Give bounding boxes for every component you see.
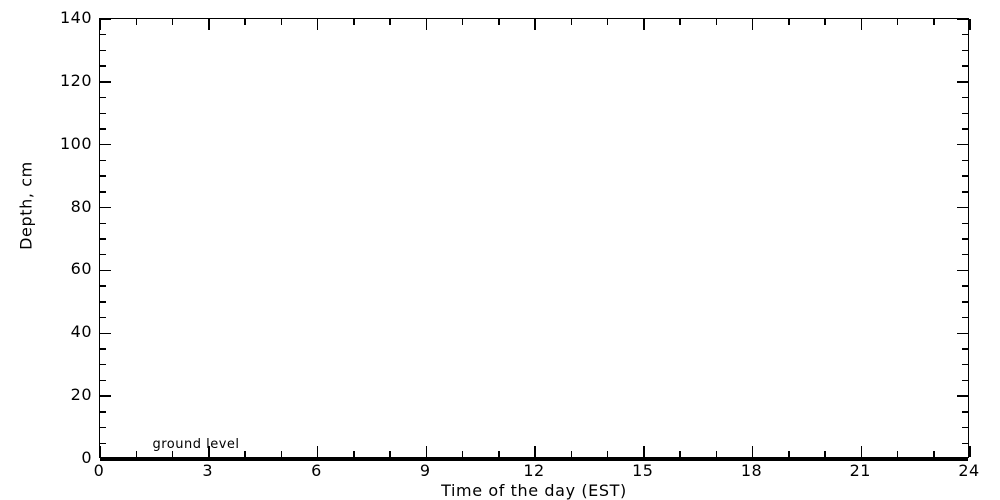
x-axis-tick-label: 15 <box>632 463 653 479</box>
y-axis-tick <box>100 254 106 256</box>
x-axis-tick <box>353 451 355 457</box>
y-axis-tick <box>100 65 106 67</box>
y-axis-tick <box>962 238 968 240</box>
x-axis-tick <box>571 19 573 25</box>
y-axis-tick <box>962 285 968 287</box>
y-axis-tick <box>100 317 106 319</box>
x-axis-tick-label: 0 <box>94 463 105 479</box>
temperature-profile-chart: Temperature Profile Jun 16, 2015 (201516… <box>0 0 1000 500</box>
x-axis-tick <box>353 19 355 25</box>
y-axis-tick <box>100 207 111 209</box>
x-axis-tick-label: 3 <box>202 463 213 479</box>
x-axis-tick <box>969 19 971 30</box>
x-axis-tick <box>498 451 500 457</box>
y-axis-tick <box>962 317 968 319</box>
x-axis-tick-label: 9 <box>420 463 431 479</box>
x-axis-tick <box>969 446 971 457</box>
y-axis-tick <box>962 443 968 445</box>
y-axis-tick-label: 60 <box>71 261 92 277</box>
y-axis-tick <box>957 270 968 272</box>
y-axis-tick <box>957 458 968 460</box>
y-axis-tick <box>100 175 106 177</box>
y-axis-tick-label: 100 <box>60 136 92 152</box>
x-axis-tick <box>208 446 210 457</box>
y-axis-tick <box>962 65 968 67</box>
x-axis-tick <box>99 446 101 457</box>
y-axis-tick <box>962 175 968 177</box>
y-axis-tick <box>962 50 968 52</box>
x-axis-tick-label: 18 <box>741 463 762 479</box>
ground-level-label: ground level <box>153 437 240 452</box>
y-axis-tick <box>100 50 106 52</box>
y-axis-tick <box>962 97 968 99</box>
y-axis-tick <box>957 207 968 209</box>
y-axis-tick <box>962 160 968 162</box>
y-axis-tick <box>100 395 111 397</box>
x-axis-tick <box>99 19 101 30</box>
x-axis-tick-label: 21 <box>850 463 871 479</box>
x-axis-tick <box>136 451 138 457</box>
x-axis-tick <box>462 451 464 457</box>
plot-area: ground level <box>99 18 969 458</box>
y-axis-tick <box>957 395 968 397</box>
x-axis-tick <box>897 451 899 457</box>
y-axis-tick <box>100 223 106 225</box>
x-axis-tick <box>607 19 609 25</box>
y-axis-tick <box>957 18 968 20</box>
y-axis-tick <box>962 380 968 382</box>
x-axis-tick <box>752 19 754 30</box>
x-axis-tick <box>317 446 319 457</box>
y-axis-tick <box>100 443 106 445</box>
y-axis-tick <box>100 301 106 303</box>
y-axis-tick <box>100 97 106 99</box>
x-axis-tick <box>897 19 899 25</box>
x-axis-tick <box>208 19 210 30</box>
y-axis-tick <box>100 348 106 350</box>
x-axis-tick <box>462 19 464 25</box>
x-axis-tick <box>861 19 863 30</box>
y-axis-tick <box>962 301 968 303</box>
y-axis-tick-labels: 020406080100120140 <box>0 18 92 458</box>
y-axis-tick <box>962 364 968 366</box>
y-axis-tick <box>962 411 968 413</box>
y-axis-tick <box>100 144 111 146</box>
x-axis-tick <box>679 19 681 25</box>
y-axis-tick <box>100 18 111 20</box>
x-axis-tick <box>788 451 790 457</box>
x-axis-tick <box>389 19 391 25</box>
x-axis-tick <box>643 19 645 30</box>
y-axis-tick <box>962 254 968 256</box>
x-axis-tick <box>317 19 319 30</box>
x-axis-tick <box>824 451 826 457</box>
y-axis-tick <box>957 333 968 335</box>
x-axis-tick <box>607 451 609 457</box>
x-axis-tick <box>861 446 863 457</box>
y-axis-tick <box>100 160 106 162</box>
y-axis-tick-label: 40 <box>71 324 92 340</box>
y-axis-tick <box>962 223 968 225</box>
y-axis-tick <box>100 411 106 413</box>
y-axis-tick <box>962 191 968 193</box>
y-axis-tick <box>100 113 106 115</box>
x-axis-title: Time of the day (EST) <box>99 481 969 500</box>
x-axis-tick <box>933 19 935 25</box>
y-axis-tick-label: 0 <box>81 450 92 466</box>
y-axis-tick <box>957 81 968 83</box>
x-axis-tick-label: 6 <box>311 463 322 479</box>
y-axis-tick <box>100 270 111 272</box>
x-axis-tick <box>716 451 718 457</box>
y-axis-tick <box>100 285 106 287</box>
y-axis-tick <box>962 128 968 130</box>
x-axis-tick <box>716 19 718 25</box>
x-axis-tick-label: 12 <box>523 463 544 479</box>
y-axis-tick <box>100 458 111 460</box>
y-axis-tick-label: 120 <box>60 73 92 89</box>
y-axis-tick <box>100 364 106 366</box>
y-axis-tick <box>962 348 968 350</box>
x-axis-tick <box>534 19 536 30</box>
y-axis-tick-label: 20 <box>71 387 92 403</box>
x-axis-tick <box>136 19 138 25</box>
y-axis-tick-label: 140 <box>60 10 92 26</box>
y-axis-tick <box>957 144 968 146</box>
y-axis-tick <box>100 34 106 36</box>
y-axis-tick-label: 80 <box>71 199 92 215</box>
x-axis-tick <box>389 451 391 457</box>
x-axis-tick <box>824 19 826 25</box>
x-axis-tick <box>244 19 246 25</box>
x-axis-tick <box>679 451 681 457</box>
x-axis-tick <box>426 446 428 457</box>
x-axis-tick <box>281 451 283 457</box>
y-axis-tick <box>100 191 106 193</box>
x-axis-tick <box>752 446 754 457</box>
y-axis-tick <box>100 81 111 83</box>
x-axis-tick <box>933 451 935 457</box>
x-axis-tick-labels: 03691215182124 <box>99 463 969 483</box>
y-axis-tick <box>100 427 106 429</box>
y-axis-tick <box>962 427 968 429</box>
y-axis-tick <box>100 380 106 382</box>
y-axis-tick <box>100 333 111 335</box>
x-axis-tick <box>426 19 428 30</box>
x-axis-tick <box>788 19 790 25</box>
y-axis-tick <box>962 113 968 115</box>
x-axis-tick <box>534 446 536 457</box>
y-axis-tick <box>100 128 106 130</box>
x-axis-tick <box>244 451 246 457</box>
x-axis-tick <box>498 19 500 25</box>
y-axis-tick <box>962 34 968 36</box>
x-axis-tick <box>172 19 174 25</box>
x-axis-tick <box>281 19 283 25</box>
x-axis-tick <box>571 451 573 457</box>
x-axis-tick <box>643 446 645 457</box>
y-axis-tick <box>100 238 106 240</box>
x-axis-tick-label: 24 <box>958 463 979 479</box>
x-axis-tick <box>172 451 174 457</box>
